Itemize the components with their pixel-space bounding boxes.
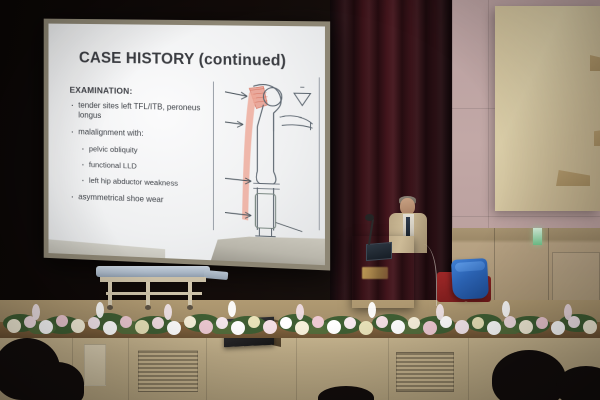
slide-section-label: EXAMINATION: [70,85,133,96]
examination-table [96,266,210,277]
slide-title: CASE HISTORY (continued) [48,49,318,71]
list-item: asymmetrical shoe wear [70,192,217,207]
page-edge [48,239,165,258]
list-item: tender sites left TFL/ITB, peroneus long… [70,101,217,124]
projection-screen: CASE HISTORY (continued) EXAMINATION: te… [44,19,330,271]
exit-sign-icon [533,228,542,245]
podium-emblem [362,267,388,279]
page-curl-corner [211,234,325,265]
lower-limb-anatomy-diagram [223,78,321,243]
stage-floral-arrangement [0,300,600,340]
ventilation-grille [138,350,198,392]
list-item: left hip abductor weakness [70,176,217,190]
audience-head [492,350,566,400]
slide-bullet-list: tender sites left TFL/ITB, peroneus long… [70,101,217,214]
stage-front-panel-inset [84,344,106,386]
list-item: functional LLD [70,160,217,174]
microphone-icon [365,214,374,221]
screen-surface: CASE HISTORY (continued) EXAMINATION: te… [48,24,324,266]
list-item: malalignment with: [70,127,217,141]
presentation-slide: CASE HISTORY (continued) EXAMINATION: te… [48,24,324,266]
list-item: pelvic obliquity [70,143,217,157]
audience-head [30,362,84,400]
table-rail [106,292,202,295]
lecture-hall-photo: CASE HISTORY (continued) EXAMINATION: te… [0,0,600,400]
figure-divider-line [213,82,214,231]
ventilation-grille [396,352,454,392]
acoustic-wedge [590,55,600,71]
